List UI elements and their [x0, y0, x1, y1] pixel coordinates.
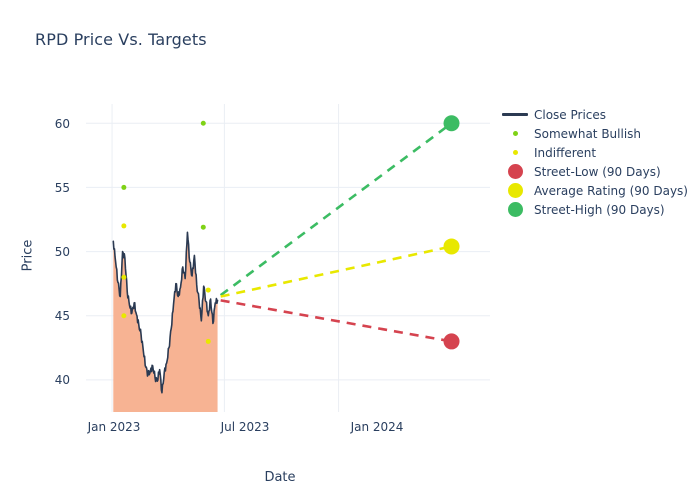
legend-item[interactable]: Somewhat Bullish — [500, 124, 696, 143]
page-title: RPD Price Vs. Targets — [35, 30, 207, 49]
x-axis-tick-jan-2024: Jan 2024 — [332, 420, 422, 434]
y-axis-tick-50: 50 — [30, 245, 70, 259]
legend-swatch — [502, 113, 528, 116]
rating-point[interactable] — [121, 313, 126, 318]
legend-item[interactable]: Street-Low (90 Days) — [500, 162, 696, 181]
y-axis-tick-60: 60 — [30, 117, 70, 131]
target-marker[interactable] — [444, 238, 460, 254]
y-axis-tick-40: 40 — [30, 373, 70, 387]
legend-item-label: Close Prices — [534, 108, 606, 122]
rating-point[interactable] — [121, 185, 126, 190]
legend-item-label: Street-Low (90 Days) — [534, 165, 661, 179]
legend-line-icon — [500, 113, 530, 116]
legend-item-label: Average Rating (90 Days) — [534, 184, 688, 198]
target-line — [221, 300, 452, 341]
y-axis-tick-45: 45 — [30, 309, 70, 323]
legend-large-dot-icon — [500, 183, 530, 198]
legend-item[interactable]: Street-High (90 Days) — [500, 200, 696, 219]
x-axis-title: Date — [0, 470, 560, 485]
chart-legend: Close PricesSomewhat BullishIndifferentS… — [500, 105, 696, 219]
target-marker[interactable] — [444, 115, 460, 131]
chart-root: RPD Price Vs. Targets 60 55 50 45 40 Jan… — [0, 0, 700, 500]
rating-point[interactable] — [121, 275, 126, 280]
legend-small-dot-icon — [500, 131, 530, 136]
legend-swatch — [513, 131, 518, 136]
x-axis-tick-jul-2023: Jul 2023 — [200, 420, 290, 434]
legend-item-label: Indifferent — [534, 146, 596, 160]
legend-swatch — [508, 183, 523, 198]
rating-point[interactable] — [201, 121, 206, 126]
legend-item[interactable]: Close Prices — [500, 105, 696, 124]
legend-item[interactable]: Indifferent — [500, 143, 696, 162]
rating-point[interactable] — [206, 288, 211, 293]
legend-small-dot-icon — [500, 150, 530, 155]
legend-large-dot-icon — [500, 202, 530, 217]
y-axis-tick-55: 55 — [30, 181, 70, 195]
plot-area — [86, 104, 490, 412]
x-axis-tick-jan-2023: Jan 2023 — [69, 420, 159, 434]
legend-swatch — [513, 150, 518, 155]
legend-swatch — [508, 164, 523, 179]
legend-large-dot-icon — [500, 164, 530, 179]
rating-point[interactable] — [201, 225, 206, 230]
rating-point[interactable] — [121, 223, 126, 228]
target-line — [221, 123, 452, 295]
target-line — [221, 246, 452, 296]
legend-item-label: Street-High (90 Days) — [534, 203, 665, 217]
y-axis-title: Price — [21, 206, 36, 306]
legend-item-label: Somewhat Bullish — [534, 127, 641, 141]
legend-swatch — [508, 202, 523, 217]
chart-canvas — [86, 104, 490, 412]
rating-point[interactable] — [206, 339, 211, 344]
legend-item[interactable]: Average Rating (90 Days) — [500, 181, 696, 200]
target-marker[interactable] — [444, 333, 460, 349]
close-prices-area — [113, 232, 217, 412]
